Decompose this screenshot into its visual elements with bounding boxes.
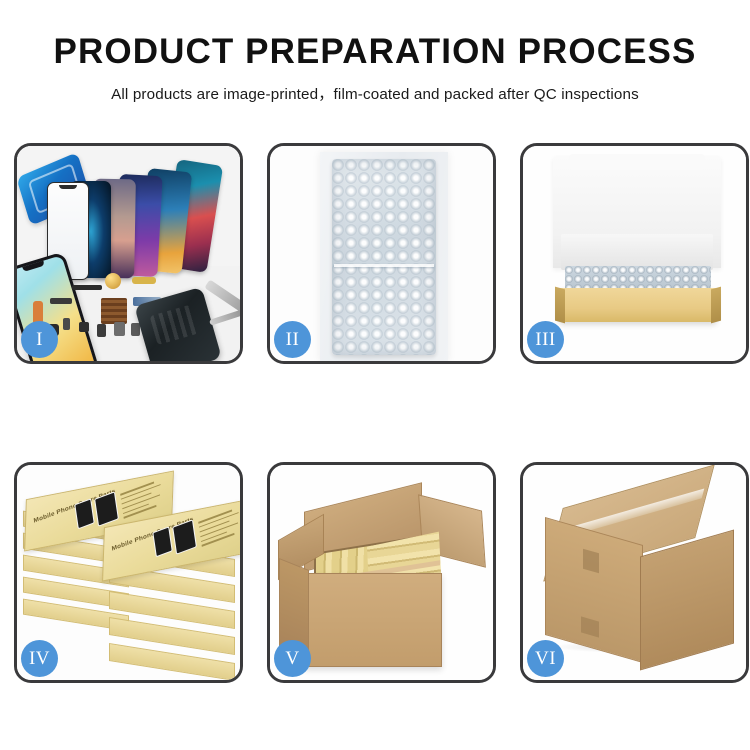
bubble-wrap-seam <box>334 264 434 267</box>
bubble-wrapped-product <box>332 159 436 355</box>
step-badge-3: III <box>527 321 564 358</box>
step-badge-5: V <box>274 640 311 677</box>
flex-cable-part-e <box>50 298 72 304</box>
retail-box-phone-graphic-2 <box>94 491 119 526</box>
process-step-panel-3[interactable]: III <box>520 143 749 364</box>
page-title: PRODUCT PREPARATION PROCESS <box>0 34 750 71</box>
small-part-3 <box>97 324 106 337</box>
step-badge-4: IV <box>21 640 58 677</box>
process-step-panel-5[interactable]: V <box>267 462 496 683</box>
retail-box-phone-graphic-4 <box>172 519 197 554</box>
carton-marking-1 <box>583 549 599 574</box>
flex-cable-part-a <box>72 285 102 290</box>
retail-box-spec-lines-bottom <box>198 506 240 551</box>
process-step-panel-2[interactable]: II <box>267 143 496 364</box>
chip-part <box>101 298 127 324</box>
open-kraft-box <box>559 288 717 322</box>
step-badge-2: II <box>274 321 311 358</box>
small-part-4 <box>114 322 125 336</box>
vibration-motor-part <box>105 273 121 289</box>
step-badge-6: VI <box>527 640 564 677</box>
flex-cable-part-b <box>132 277 156 284</box>
process-step-grid: I II III <box>14 143 740 683</box>
small-part-2 <box>79 322 89 332</box>
process-step-panel-4[interactable]: Mobile Phone Spare Parts Mobile Phone Sp… <box>14 462 243 683</box>
step-badge-1: I <box>21 321 58 358</box>
page-subtitle: All products are image-printed，film-coat… <box>0 82 750 104</box>
small-part-1 <box>63 318 70 330</box>
carton-body <box>304 573 442 667</box>
retail-box-stack: Mobile Phone Spare Parts Mobile Phone Sp… <box>23 483 235 673</box>
process-step-panel-1[interactable]: I <box>14 143 243 364</box>
page-header: PRODUCT PREPARATION PROCESS All products… <box>0 0 750 104</box>
process-step-panel-6[interactable]: VI <box>520 462 749 683</box>
retail-box-phone-graphic-1 <box>74 498 94 529</box>
retail-box-phone-graphic-3 <box>152 526 172 557</box>
foam-pad <box>561 234 713 270</box>
